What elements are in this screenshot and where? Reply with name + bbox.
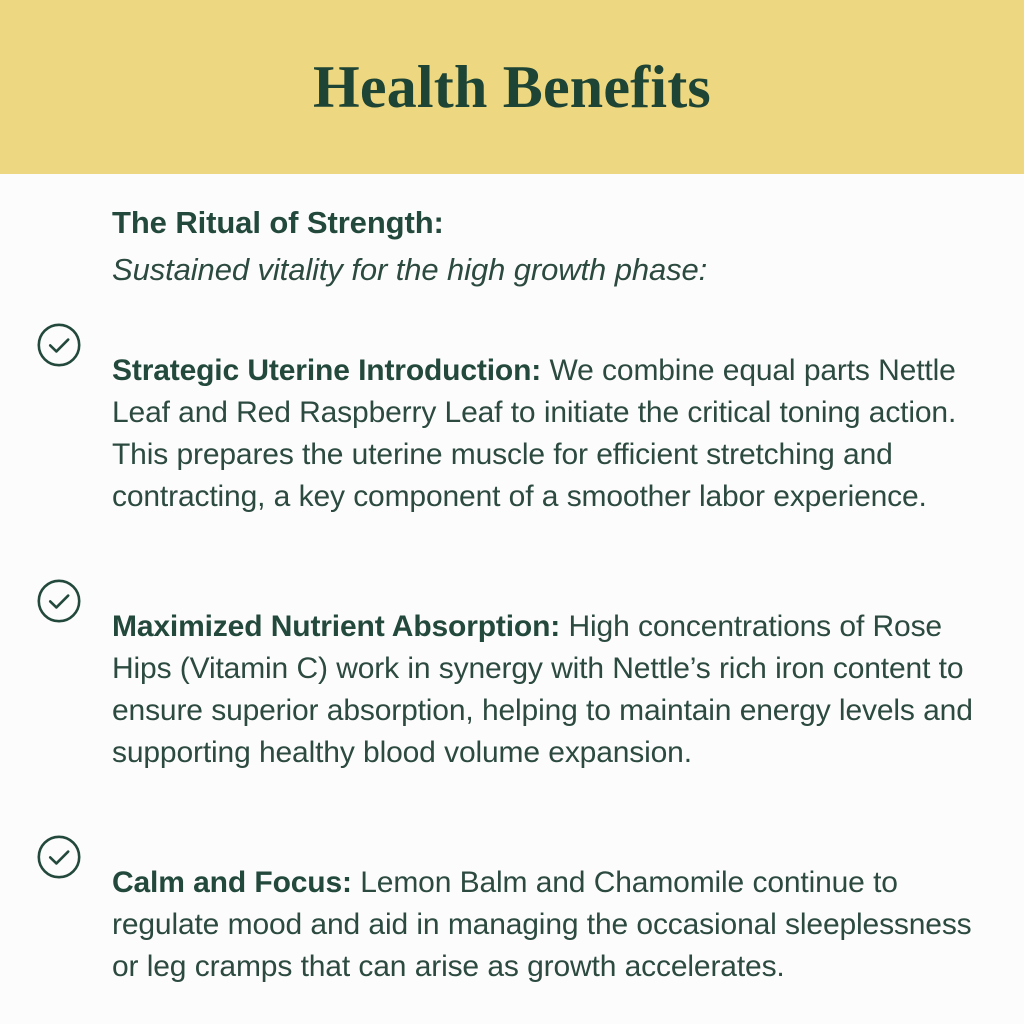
health-benefits-page: Health Benefits The Ritual of Strength: … xyxy=(0,0,1024,1024)
circle-check-icon xyxy=(37,579,81,623)
list-item: Strategic Uterine Introduction: We combi… xyxy=(0,320,980,548)
benefit-lead: Maximized Nutrient Absorption: xyxy=(112,610,560,643)
circle-check-icon xyxy=(37,835,81,879)
benefit-text: Strategic Uterine Introduction: We combi… xyxy=(81,350,980,518)
intro-subheading: Sustained vitality for the high growth p… xyxy=(112,246,964,294)
benefit-lead: Strategic Uterine Introduction: xyxy=(112,354,541,387)
list-item: Calm and Focus: Lemon Balm and Chamomile… xyxy=(0,832,980,1018)
page-title: Health Benefits xyxy=(289,57,735,117)
header-banner: Health Benefits xyxy=(0,0,1024,174)
benefits-list: Strategic Uterine Introduction: We combi… xyxy=(0,294,1024,1018)
benefit-lead: Calm and Focus: xyxy=(112,866,352,899)
main-content: The Ritual of Strength: Sustained vitali… xyxy=(0,174,1024,1018)
list-item: Maximized Nutrient Absorption: High conc… xyxy=(0,576,980,804)
benefit-text: Calm and Focus: Lemon Balm and Chamomile… xyxy=(81,862,980,988)
intro-heading: The Ritual of Strength: xyxy=(112,200,964,246)
intro-block: The Ritual of Strength: Sustained vitali… xyxy=(0,174,1024,294)
circle-check-icon xyxy=(37,323,81,367)
benefit-text: Maximized Nutrient Absorption: High conc… xyxy=(81,606,980,774)
